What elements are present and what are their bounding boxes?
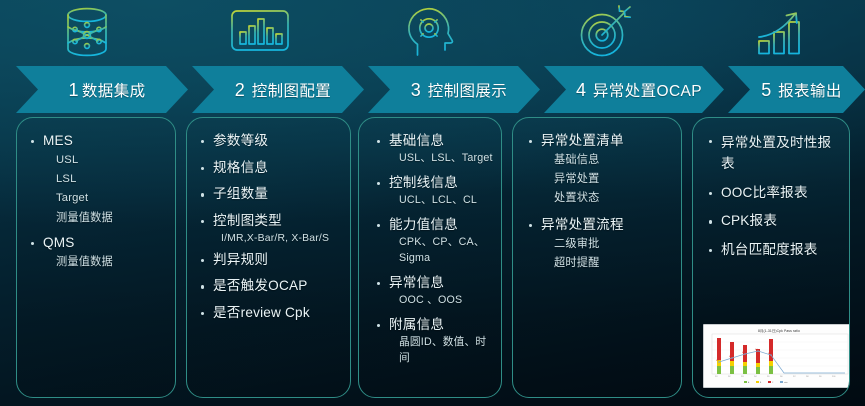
growth-bar-chart-icon <box>746 6 812 60</box>
bullet-text: 参数等级 <box>213 133 268 148</box>
svg-text:W4: W4 <box>754 376 757 378</box>
bullet-text: 子组数量 <box>213 186 268 201</box>
step-chevron-4[interactable]: 4 异常处置OCAP <box>544 66 724 113</box>
thumbnail-chart-title: 8月(1-31日)Cpk Pass ratio <box>704 325 850 333</box>
bullet-list-2: 参数等级 规格信息 子组数量 控制图类型 I/MR,X-Bar/R, X-Bar… <box>197 132 342 322</box>
bullet-text: 基础信息 <box>389 133 444 148</box>
svg-text:W10: W10 <box>832 376 836 378</box>
process-step-bar: 1数据集成 2 控制图配置 3 控制图展示 4 异常处置OCAP 5 报表输出 <box>0 66 865 113</box>
detail-cards: MES USL LSL Target 测量值数据 QMS 测量值数据 参数等级 <box>0 117 865 399</box>
svg-text:A: A <box>748 381 750 384</box>
card-data-integration[interactable]: MES USL LSL Target 测量值数据 QMS 测量值数据 <box>16 117 176 398</box>
icon-row <box>0 0 865 66</box>
list-item: 基础信息 USL、LSL、Target <box>373 132 493 167</box>
svg-text:W1: W1 <box>715 376 718 378</box>
list-item: 能力值信息 CPK、CP、CA、Sigma <box>373 216 493 267</box>
svg-text:W5: W5 <box>767 376 770 378</box>
svg-text:W8: W8 <box>806 376 809 378</box>
bullet-text: 附属信息 <box>389 317 444 332</box>
bullet-text: 异常信息 <box>389 275 444 290</box>
target-arrow-icon <box>575 5 637 61</box>
head-gear-icon <box>404 5 462 61</box>
bullet-sub: 晶圆ID、数值、时间 <box>389 335 493 367</box>
list-item: MES USL LSL Target 测量值数据 <box>27 132 167 227</box>
bullet-sub: 测量值数据 <box>43 253 167 271</box>
list-item: 异常处置及时性报表 <box>705 132 841 174</box>
infographic-slide: 1数据集成 2 控制图配置 3 控制图展示 4 异常处置OCAP 5 报表输出 <box>0 0 865 406</box>
bullet-sub: LSL <box>43 170 167 188</box>
bullet-text: 异常处置清单 <box>541 133 624 148</box>
step-label-4: 4 异常处置OCAP <box>566 79 702 101</box>
bullet-text: 异常处置及时性报表 <box>721 135 831 171</box>
bullet-sub: I/MR,X-Bar/R, X-Bar/S <box>213 231 342 246</box>
step-chevron-3[interactable]: 3 控制图展示 <box>368 66 540 113</box>
bullet-text: 是否触发OCAP <box>213 278 308 293</box>
report-thumbnail-chart[interactable]: 8月(1-31日)Cpk Pass ratio <box>703 324 850 388</box>
database-network-icon <box>56 5 118 61</box>
list-item: 是否触发OCAP <box>197 277 342 295</box>
list-item: 判异规则 <box>197 251 342 269</box>
list-item: 是否review Cpk <box>197 304 342 322</box>
step-chevron-1[interactable]: 1数据集成 <box>16 66 188 113</box>
bullet-sub: 超时提醒 <box>541 254 673 272</box>
step-number-1: 1 <box>68 80 78 100</box>
list-item: 附属信息 晶圆ID、数值、时间 <box>373 316 493 367</box>
step-title-4: 异常处置OCAP <box>593 83 702 100</box>
list-item: 规格信息 <box>197 159 342 177</box>
bullet-sub: USL <box>43 151 167 169</box>
svg-text:ratio: ratio <box>784 381 788 384</box>
bullet-sub: OOC 、OOS <box>389 293 493 309</box>
bullet-sub: Target <box>43 189 167 207</box>
icon-cell-5 <box>692 0 865 66</box>
step-chevron-2[interactable]: 2 控制图配置 <box>192 66 364 113</box>
bullet-text: 是否review Cpk <box>213 305 310 320</box>
svg-text:W9: W9 <box>819 376 822 378</box>
list-item: CPK报表 <box>705 212 841 230</box>
step-title-1: 数据集成 <box>82 83 146 100</box>
svg-text:C: C <box>772 382 774 384</box>
bullet-text: 判异规则 <box>213 252 268 267</box>
bullet-list-4: 异常处置清单 基础信息 异常处置 处置状态 异常处置流程 二级审批 超时提醒 <box>525 132 673 272</box>
bullet-text: 能力值信息 <box>389 217 458 232</box>
step-number-4: 4 <box>576 80 586 100</box>
list-item: 参数等级 <box>197 132 342 150</box>
step-number-2: 2 <box>235 80 245 100</box>
svg-text:W6: W6 <box>780 376 783 378</box>
bullet-sub: UCL、LCL、CL <box>389 193 493 209</box>
card-chart-config[interactable]: 参数等级 规格信息 子组数量 控制图类型 I/MR,X-Bar/R, X-Bar… <box>186 117 351 398</box>
bullet-text: CPK报表 <box>721 213 777 228</box>
icon-cell-1 <box>0 0 173 66</box>
svg-text:W7: W7 <box>793 376 796 378</box>
bullet-list-3: 基础信息 USL、LSL、Target 控制线信息 UCL、LCL、CL 能力值… <box>373 132 493 367</box>
icon-cell-3 <box>346 0 519 66</box>
card-ocap[interactable]: 异常处置清单 基础信息 异常处置 处置状态 异常处置流程 二级审批 超时提醒 <box>512 117 682 398</box>
bullet-text: 机台匹配度报表 <box>721 242 818 257</box>
list-item: 子组数量 <box>197 185 342 203</box>
bullet-list-1: MES USL LSL Target 测量值数据 QMS 测量值数据 <box>27 132 167 271</box>
bullet-text: 控制图类型 <box>213 213 282 228</box>
list-item: OOC比率报表 <box>705 184 841 202</box>
step-label-2: 2 控制图配置 <box>225 79 331 101</box>
bullet-text: 异常处置流程 <box>541 217 624 232</box>
bullet-sub: 异常处置 <box>541 170 673 188</box>
list-item: 异常处置清单 基础信息 异常处置 处置状态 <box>525 132 673 208</box>
bullet-text: QMS <box>43 235 75 250</box>
bullet-list-5: 异常处置及时性报表 OOC比率报表 CPK报表 机台匹配度报表 <box>705 132 841 259</box>
step-title-2: 控制图配置 <box>252 83 332 100</box>
icon-cell-2 <box>173 0 346 66</box>
bullet-sub: 二级审批 <box>541 235 673 253</box>
list-item: 机台匹配度报表 <box>705 241 841 259</box>
svg-text:W3: W3 <box>741 376 744 378</box>
card-reports[interactable]: 异常处置及时性报表 OOC比率报表 CPK报表 机台匹配度报表 8月(1-31日… <box>692 117 850 398</box>
monitor-bar-chart-icon <box>227 7 293 59</box>
bullet-sub: 处置状态 <box>541 189 673 207</box>
svg-text:W2: W2 <box>728 376 731 378</box>
list-item: 异常处置流程 二级审批 超时提醒 <box>525 216 673 272</box>
bullet-sub: 基础信息 <box>541 151 673 169</box>
bullet-sub: 测量值数据 <box>43 209 167 227</box>
bullet-sub: USL、LSL、Target <box>389 151 493 167</box>
step-title-3: 控制图展示 <box>428 83 508 100</box>
list-item: 异常信息 OOC 、OOS <box>373 274 493 309</box>
step-label-5: 5 报表输出 <box>751 79 842 101</box>
step-number-3: 3 <box>411 80 421 100</box>
bullet-text: MES <box>43 133 73 148</box>
icon-cell-4 <box>519 0 692 66</box>
step-title-5: 报表输出 <box>778 83 842 100</box>
bullet-sub: CPK、CP、CA、Sigma <box>389 235 493 267</box>
bullet-text: 控制线信息 <box>389 175 458 190</box>
thumbnail-chart-plot: 0.00.0 0.00.0 0.0 W1W2 W3W4 W5W6 W7W8 W9… <box>704 333 850 386</box>
step-label-1: 1数据集成 <box>58 79 145 101</box>
list-item: QMS 测量值数据 <box>27 234 167 271</box>
step-label-3: 3 控制图展示 <box>401 79 507 101</box>
list-item: 控制线信息 UCL、LCL、CL <box>373 174 493 209</box>
step-number-5: 5 <box>761 80 771 100</box>
bullet-text: 规格信息 <box>213 160 268 175</box>
step-chevron-5[interactable]: 5 报表输出 <box>728 66 865 113</box>
svg-text:B: B <box>760 382 762 384</box>
list-item: 控制图类型 I/MR,X-Bar/R, X-Bar/S <box>197 212 342 247</box>
bullet-text: OOC比率报表 <box>721 185 808 200</box>
card-chart-display[interactable]: 基础信息 USL、LSL、Target 控制线信息 UCL、LCL、CL 能力值… <box>358 117 502 398</box>
